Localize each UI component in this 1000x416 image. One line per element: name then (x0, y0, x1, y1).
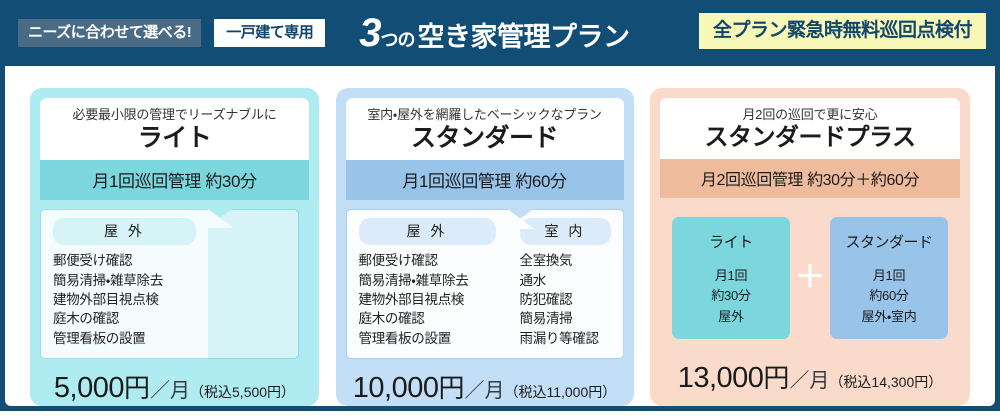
plan-combo-boxes: ライト 月1回 約30分 屋外 ＋ スタンダード 月1回 約60分 屋外・室内 (660, 207, 960, 349)
plan-frequency-plus: 月2回巡回管理 約30分＋約60分 (660, 159, 960, 198)
price-period: ／月 (150, 380, 190, 402)
list-item: 郵便受け確認 (359, 251, 496, 270)
combo-box-title: スタンダード (830, 231, 948, 252)
combo-box-standard: スタンダード 月1回 約60分 屋外・室内 (830, 217, 948, 338)
price-tax-note: （税込11,000円） (504, 384, 616, 400)
page-title: 3 つの 空き家管理プラン (359, 13, 629, 53)
price-tax-note: （税込5,500円） (190, 384, 295, 400)
price-period: ／月 (464, 380, 504, 402)
feature-column-outdoor: 屋 外 郵便受け確認 簡易清掃・雑草除去 建物外部目視点検 庭木の確認 管理看板… (40, 209, 208, 359)
plan-card-list: 必要最小限の管理でリーズナブルに ライト 月1回巡回管理 約30分 屋 外 郵便… (5, 66, 995, 406)
feature-column-empty (208, 209, 299, 359)
feature-list: 全室換気 通水 防犯確認 簡易清掃 雨漏り等確認 (520, 251, 611, 348)
price-amount: 13,000 (678, 362, 764, 394)
price-currency: 円 (763, 363, 789, 393)
plan-price-standard: 10,000円／月（税込11,000円） (346, 359, 624, 416)
price-currency: 円 (438, 373, 464, 403)
title-text: 空き家管理プラン (418, 24, 630, 51)
feature-list: 郵便受け確認 簡易清掃・雑草除去 建物外部目視点検 庭木の確認 管理看板の設置 (53, 251, 196, 348)
combo-box-line: 屋外 (672, 307, 790, 327)
plan-card-standard[interactable]: 室内・屋外を網羅したベーシックなプラン スタンダード 月1回巡回管理 約60分 … (336, 88, 634, 406)
list-item: 管理看板の設置 (359, 329, 496, 348)
content-panel: 必要最小限の管理でリーズナブルに ライト 月1回巡回管理 約30分 屋 外 郵便… (5, 66, 995, 406)
title-counter: つの (381, 31, 415, 49)
combo-box-line: 屋外・室内 (830, 307, 948, 327)
plan-features-standard: 屋 外 郵便受け確認 簡易清掃・雑草除去 建物外部目視点検 庭木の確認 管理看板… (346, 209, 624, 359)
list-item: 庭木の確認 (53, 309, 196, 328)
combo-box-line: 約30分 (672, 286, 790, 306)
combo-box-line: 月1回 (672, 266, 790, 286)
header-bar: ニーズに合わせて選べる! 一戸建て専用 3 つの 空き家管理プラン 全プラン緊急… (0, 0, 1000, 66)
list-item: 全室換気 (520, 251, 611, 270)
infographic-root: ニーズに合わせて選べる! 一戸建て専用 3 つの 空き家管理プラン 全プラン緊急… (0, 0, 1000, 411)
feature-column-title: 室 内 (520, 218, 611, 245)
badge-detached-house: 一戸建て専用 (214, 19, 325, 47)
plan-header-plus: 月2回の巡回で更に安心 スタンダードプラス (660, 98, 960, 159)
plan-lead-plus: 月2回の巡回で更に安心 (664, 107, 956, 123)
list-item: 簡易清掃・雑草除去 (53, 271, 196, 290)
plan-lead-light: 必要最小限の管理でリーズナブルに (44, 107, 305, 123)
price-tax-note: （税込14,300円） (829, 374, 942, 390)
feature-column-outdoor: 屋 外 郵便受け確認 簡易清掃・雑草除去 建物外部目視点検 庭木の確認 管理看板… (346, 209, 508, 359)
badge-needs: ニーズに合わせて選べる! (18, 19, 201, 47)
list-item: 郵便受け確認 (53, 251, 196, 270)
list-item: 管理看板の設置 (53, 329, 196, 348)
plan-features-light: 屋 外 郵便受け確認 簡易清掃・雑草除去 建物外部目視点検 庭木の確認 管理看板… (40, 209, 309, 359)
feature-column-title: 屋 外 (359, 218, 496, 245)
list-item: 建物外部目視点検 (359, 290, 496, 309)
list-item: 防犯確認 (520, 290, 611, 309)
price-period: ／月 (789, 370, 829, 392)
plan-card-standard-plus[interactable]: 月2回の巡回で更に安心 スタンダードプラス 月2回巡回管理 約30分＋約60分 … (650, 88, 970, 406)
combo-box-light: ライト 月1回 約30分 屋外 (672, 217, 790, 338)
combo-box-line: 月1回 (830, 266, 948, 286)
list-item: 簡易清掃 (520, 309, 611, 328)
price-amount: 5,000 (54, 372, 124, 404)
plan-card-light[interactable]: 必要最小限の管理でリーズナブルに ライト 月1回巡回管理 約30分 屋 外 郵便… (30, 88, 319, 406)
list-item: 通水 (520, 271, 611, 290)
price-currency: 円 (124, 373, 150, 403)
list-item: 簡易清掃・雑草除去 (359, 271, 496, 290)
plan-frequency-light: 月1回巡回管理 約30分 (40, 160, 309, 200)
title-number: 3 (359, 13, 380, 53)
combo-box-line: 約60分 (830, 286, 948, 306)
feature-column-title: 屋 外 (53, 218, 196, 245)
list-item: 建物外部目視点検 (53, 290, 196, 309)
plan-lead-standard: 室内・屋外を網羅したベーシックなプラン (350, 107, 620, 123)
plan-name-light: ライト (44, 124, 305, 154)
plan-frequency-standard: 月1回巡回管理 約60分 (346, 160, 624, 200)
price-amount: 10,000 (353, 372, 439, 404)
plus-icon: ＋ (790, 263, 830, 293)
list-item: 雨漏り等確認 (520, 329, 611, 348)
list-item: 庭木の確認 (359, 309, 496, 328)
plan-header-standard: 室内・屋外を網羅したベーシックなプラン スタンダード (346, 98, 624, 160)
feature-list: 郵便受け確認 簡易清掃・雑草除去 建物外部目視点検 庭木の確認 管理看板の設置 (359, 251, 496, 348)
plan-price-plus: 13,000円／月（税込14,300円） (660, 349, 960, 406)
plan-price-light: 5,000円／月（税込5,500円） (40, 359, 309, 416)
plan-name-standard: スタンダード (350, 124, 620, 154)
feature-column-indoor: 室 内 全室換気 通水 防犯確認 簡易清掃 雨漏り等確認 (508, 209, 624, 359)
plan-name-plus: スタンダードプラス (664, 124, 956, 152)
combo-box-title: ライト (672, 231, 790, 252)
plan-header-light: 必要最小限の管理でリーズナブルに ライト (40, 98, 309, 160)
badge-emergency-inspection: 全プラン緊急時無料巡回点検付 (699, 13, 986, 49)
